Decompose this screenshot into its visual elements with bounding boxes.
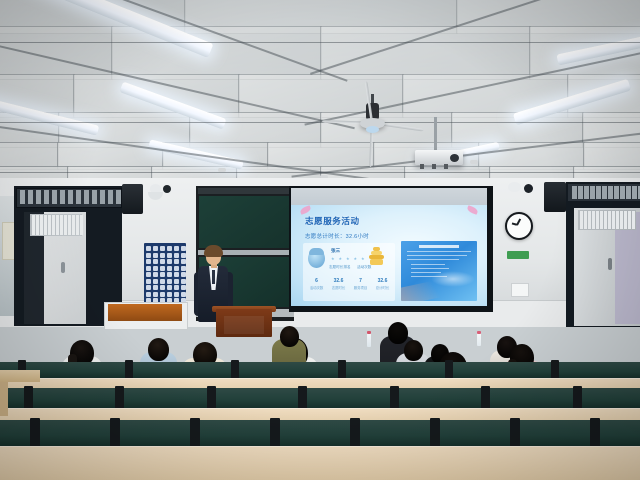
door-vent-slat bbox=[628, 211, 631, 229]
certificate-document-image bbox=[401, 241, 477, 301]
seat-bracket bbox=[231, 360, 239, 380]
transom-slat bbox=[632, 186, 637, 199]
curtain-pattern-dot bbox=[167, 292, 172, 297]
curtain-pattern-dot bbox=[174, 253, 179, 258]
projection-screen: 志愿服务活动 志愿总计时长：32.6小时 张三 ★ ★ ★ ★ ★ 志愿时长排名… bbox=[291, 188, 487, 306]
seat-bracket bbox=[110, 418, 120, 448]
stat-label: 活动次数 bbox=[305, 285, 328, 292]
door-vent-slat bbox=[620, 211, 623, 229]
curtain-pattern-dot bbox=[181, 272, 186, 277]
door-vent-slat bbox=[592, 211, 595, 229]
seat-bracket bbox=[590, 418, 600, 448]
chalkboard-upper-panel bbox=[199, 196, 291, 248]
document-title-bar bbox=[419, 245, 459, 248]
curtain-pattern-dot bbox=[167, 246, 172, 251]
door-vent-slat bbox=[612, 211, 615, 229]
transom-slat bbox=[578, 186, 583, 199]
curtain-pattern-dot bbox=[160, 246, 165, 251]
curtain-pattern-dot bbox=[167, 285, 172, 290]
curtain-pattern-dot bbox=[181, 246, 186, 251]
curtain-pattern-dot bbox=[174, 285, 179, 290]
curtain-pattern-dot bbox=[153, 279, 158, 284]
projector-vent bbox=[432, 164, 436, 169]
stat-value: 32.6 bbox=[327, 277, 350, 285]
student-head bbox=[148, 338, 169, 361]
curtain-pattern-dot bbox=[181, 253, 186, 258]
transom-slat bbox=[20, 190, 25, 204]
transom-slat bbox=[584, 186, 589, 199]
left-sensor-icon bbox=[163, 185, 171, 193]
curtain-pattern-dot bbox=[146, 246, 151, 251]
profile-tag-left: 志愿时长排名 bbox=[329, 265, 351, 270]
speaker-tie bbox=[212, 270, 215, 284]
seat-back bbox=[0, 388, 640, 408]
stat-column: 32.6 志愿时长 bbox=[327, 277, 350, 292]
curtain-pattern-dot bbox=[181, 259, 186, 264]
stat-value: 7 bbox=[349, 277, 372, 285]
projector-vent bbox=[420, 164, 424, 169]
door-vent-slat bbox=[616, 211, 619, 229]
curtain-pattern-dot bbox=[146, 279, 151, 284]
presentation-slide: 志愿服务活动 志愿总计时长：32.6小时 张三 ★ ★ ★ ★ ★ 志愿时长排名… bbox=[291, 205, 487, 306]
door-vent-slat bbox=[80, 215, 83, 235]
curtain-pattern-dot bbox=[146, 259, 151, 264]
curtain-pattern-dot bbox=[174, 266, 179, 271]
left-side-table bbox=[0, 370, 40, 382]
transom-slat bbox=[68, 190, 73, 204]
wall-notice bbox=[511, 283, 529, 297]
seat-bracket bbox=[298, 386, 307, 410]
student-head bbox=[280, 326, 299, 347]
left-side-table-leg bbox=[0, 382, 8, 416]
curtain-pattern-dot bbox=[146, 285, 151, 290]
transom-slat bbox=[590, 186, 595, 199]
document-text-line bbox=[411, 272, 441, 273]
door-vent-slat bbox=[52, 215, 55, 235]
curtain-pattern-dot bbox=[160, 253, 165, 258]
stat-label: 服务项目 bbox=[349, 285, 372, 292]
door-vent-slat bbox=[36, 215, 39, 235]
ceiling-beam bbox=[0, 122, 640, 123]
seat-bracket bbox=[24, 386, 33, 410]
door-vent-slat bbox=[632, 211, 635, 229]
curtain-pattern-dot bbox=[167, 259, 172, 264]
transom-slat bbox=[76, 190, 81, 204]
slide-subtitle: 志愿总计时长：32.6小时 bbox=[305, 232, 369, 240]
projector-lens-icon bbox=[450, 154, 459, 162]
seat-bracket bbox=[390, 386, 399, 410]
slide-title: 志愿服务活动 bbox=[305, 215, 360, 227]
medal-icon bbox=[369, 247, 384, 267]
ceiling bbox=[0, 0, 640, 195]
door-vent-slat bbox=[624, 211, 627, 229]
seat-back bbox=[0, 362, 640, 378]
seat-bracket bbox=[481, 386, 490, 410]
medal-tier bbox=[370, 259, 383, 265]
door-vent-slat bbox=[48, 215, 51, 235]
curtain-pattern-dot bbox=[153, 272, 158, 277]
curtain-pattern-dot bbox=[167, 279, 172, 284]
curtain-pattern-dot bbox=[167, 266, 172, 271]
transom-slat bbox=[602, 186, 607, 199]
seat-bracket bbox=[115, 386, 124, 410]
lecture-hall-photo: 志愿服务活动 志愿总计时长：32.6小时 张三 ★ ★ ★ ★ ★ 志愿时长排名… bbox=[0, 0, 640, 480]
stat-column: 6 活动次数 bbox=[305, 277, 328, 292]
stat-column: 7 服务项目 bbox=[349, 277, 372, 292]
audience-member bbox=[272, 326, 306, 358]
transom-slat bbox=[596, 186, 601, 199]
curtain-pattern-dot bbox=[146, 272, 151, 277]
door-vent-slat bbox=[40, 215, 43, 235]
seat-bracket bbox=[270, 418, 280, 448]
door-vent-slat bbox=[588, 211, 591, 229]
avatar-cap bbox=[309, 248, 324, 255]
door-vent-slat bbox=[72, 215, 75, 235]
seat-bracket bbox=[551, 360, 559, 380]
slide-corner-ribbon-left bbox=[299, 205, 311, 215]
door-vent-slat bbox=[580, 211, 583, 229]
curtain-pattern-dot bbox=[146, 253, 151, 258]
document-light-streak bbox=[401, 277, 451, 301]
speaker-hair bbox=[204, 245, 223, 257]
transom-slat bbox=[116, 190, 121, 204]
document-text-line bbox=[411, 276, 447, 277]
screen-top-band bbox=[291, 188, 487, 205]
curtain-pattern-dot bbox=[181, 279, 186, 284]
document-text-line bbox=[407, 255, 467, 256]
curtain-pattern-dot bbox=[153, 259, 158, 264]
ceiling-beam bbox=[0, 172, 640, 173]
slide-corner-ribbon-right bbox=[466, 205, 478, 215]
water-bottle-cap bbox=[477, 331, 481, 334]
door-vent-slat bbox=[608, 211, 611, 229]
door-vent-slat bbox=[32, 215, 35, 235]
curtain-pattern-dot bbox=[167, 253, 172, 258]
document-text-line bbox=[411, 264, 445, 265]
seat-back bbox=[0, 420, 640, 446]
door-vent-slat bbox=[64, 215, 67, 235]
stat-value: 32.6 bbox=[371, 277, 394, 285]
right-door-handle[interactable] bbox=[608, 258, 612, 270]
transom-slat bbox=[52, 190, 57, 204]
fan-light bbox=[366, 126, 379, 133]
curtain-pattern-dot bbox=[160, 266, 165, 271]
wall-clock-icon bbox=[505, 212, 533, 240]
door-vent-slat bbox=[68, 215, 71, 235]
transom-slat bbox=[572, 186, 577, 199]
right-camera-dome bbox=[508, 182, 521, 192]
projector-mount-arm bbox=[434, 117, 437, 153]
curtain-pattern-dot bbox=[160, 272, 165, 277]
curtain-pattern-dot bbox=[146, 292, 151, 297]
document-text-line bbox=[407, 251, 471, 252]
seat-bracket bbox=[30, 418, 40, 448]
transom-slat bbox=[44, 190, 49, 204]
seat-bracket bbox=[338, 360, 346, 380]
door-vent-slat bbox=[56, 215, 59, 235]
seat-bracket bbox=[350, 418, 360, 448]
curtain-pattern-dot bbox=[174, 246, 179, 251]
door-vent-slat bbox=[76, 215, 79, 235]
right-wall-speaker bbox=[544, 182, 566, 212]
student-head bbox=[404, 340, 423, 361]
curtain-pattern-dot bbox=[160, 279, 165, 284]
curtain-pattern-dot bbox=[174, 272, 179, 277]
water-bottle-cap bbox=[367, 331, 371, 334]
transom-slat bbox=[608, 186, 613, 199]
blue-curtain bbox=[144, 243, 186, 303]
water-bottle bbox=[367, 333, 371, 347]
left-door-handle[interactable] bbox=[61, 262, 65, 273]
door-vent-slat bbox=[596, 211, 599, 229]
projector-vent bbox=[444, 164, 448, 169]
transom-slat bbox=[100, 190, 105, 204]
ceiling-fixture bbox=[218, 168, 226, 172]
stat-column: 32.6 总计时长 bbox=[371, 277, 394, 292]
seat-bracket bbox=[573, 386, 582, 410]
transom-slat bbox=[614, 186, 619, 199]
transom-slat bbox=[626, 186, 631, 199]
seat-bracket bbox=[445, 360, 453, 380]
water-bottle bbox=[477, 333, 481, 346]
exit-sign bbox=[507, 251, 529, 259]
stat-value: 6 bbox=[305, 277, 328, 285]
curtain-pattern-dot bbox=[174, 259, 179, 264]
curtain-pattern-dot bbox=[160, 292, 165, 297]
stat-label: 总计时长 bbox=[371, 285, 394, 292]
podium-front-panel bbox=[224, 316, 264, 334]
curtain-pattern-dot bbox=[181, 266, 186, 271]
document-text-line bbox=[411, 268, 449, 269]
seat-bracket bbox=[510, 418, 520, 448]
profile-star-rating: ★ ★ ★ ★ ★ bbox=[331, 256, 366, 261]
volunteer-profile-card: 张三 ★ ★ ★ ★ ★ 志愿时长排名 活动次数 6 活动次数 32.6 志愿时… bbox=[303, 243, 395, 301]
stat-label: 志愿时长 bbox=[327, 285, 350, 292]
curtain-pattern-dot bbox=[153, 292, 158, 297]
curtain-pattern-dot bbox=[174, 279, 179, 284]
desk-surface bbox=[0, 446, 640, 480]
transom-slat bbox=[92, 190, 97, 204]
curtain-pattern-dot bbox=[153, 246, 158, 251]
curtain-pattern-dot bbox=[160, 259, 165, 264]
transom-slat bbox=[36, 190, 41, 204]
door-vent-slat bbox=[60, 215, 63, 235]
curtain-pattern-dot bbox=[167, 272, 172, 277]
seat-bracket bbox=[207, 386, 216, 410]
curtain-pattern-dot bbox=[181, 285, 186, 290]
seat-bracket bbox=[125, 360, 133, 380]
transom-slat bbox=[108, 190, 113, 204]
curtain-pattern-dot bbox=[160, 285, 165, 290]
curtain-pattern-dot bbox=[153, 253, 158, 258]
curtain-pattern-dot bbox=[181, 292, 186, 297]
ceiling-tile bbox=[0, 26, 113, 80]
transom-slat bbox=[84, 190, 89, 204]
right-sensor-icon bbox=[524, 184, 533, 193]
transom-slat bbox=[620, 186, 625, 199]
side-desk-top bbox=[108, 304, 182, 321]
transom-slat bbox=[28, 190, 33, 204]
curtain-pattern-dot bbox=[146, 266, 151, 271]
ceiling-beam bbox=[0, 42, 640, 43]
seat-bracket bbox=[430, 418, 440, 448]
curtain-pattern-dot bbox=[174, 292, 179, 297]
door-vent-slat bbox=[44, 215, 47, 235]
seat-bracket bbox=[190, 418, 200, 448]
door-vent-slat bbox=[584, 211, 587, 229]
document-text-line bbox=[407, 259, 459, 260]
left-wall-speaker bbox=[122, 184, 143, 214]
profile-name: 张三 bbox=[331, 248, 340, 254]
door-vent-slat bbox=[604, 211, 607, 229]
transom-slat bbox=[60, 190, 65, 204]
chalkboard-top-rail bbox=[198, 188, 292, 194]
curtain-pattern-dot bbox=[153, 285, 158, 290]
curtain-pattern-dot bbox=[153, 266, 158, 271]
ceiling-fixture bbox=[470, 160, 478, 164]
door-vent-slat bbox=[600, 211, 603, 229]
